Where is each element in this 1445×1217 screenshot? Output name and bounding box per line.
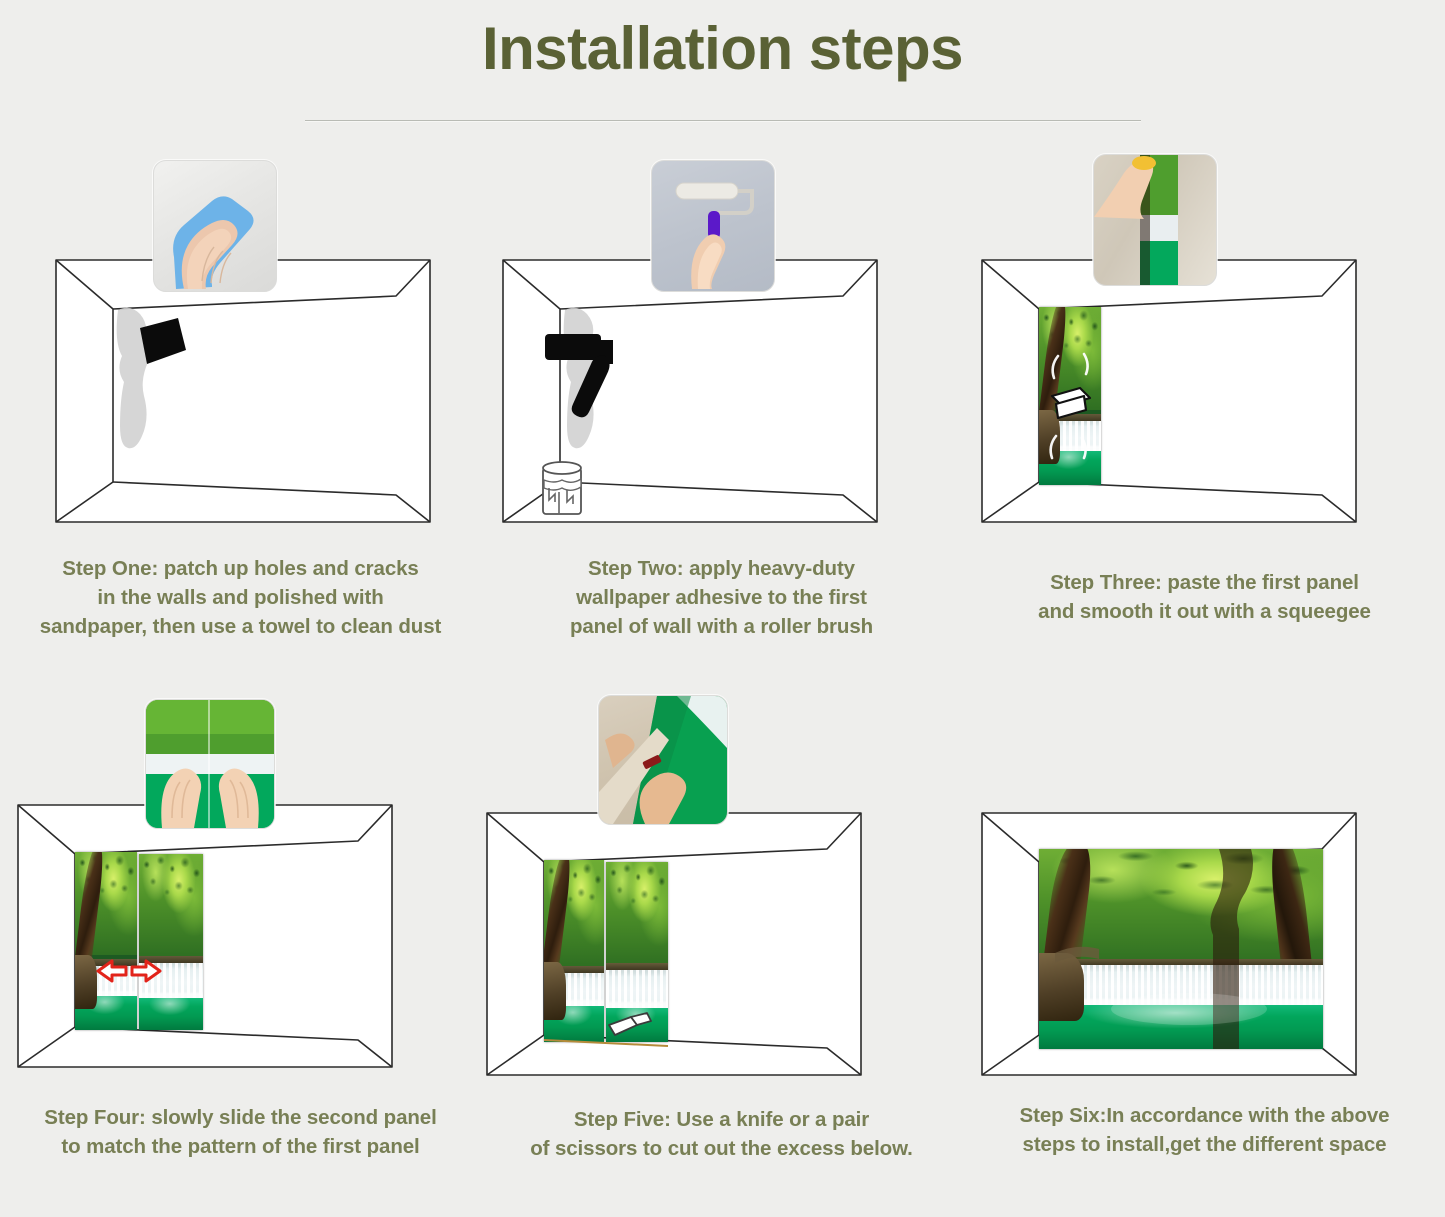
step-card-two: Step Two: apply heavy-duty wallpaper adh…: [481, 150, 962, 683]
hand-with-cloth-photo: [154, 161, 276, 291]
step-card-three: Step Three: paste the first panel and sm…: [964, 150, 1445, 683]
step-card-one: Step One: patch up holes and cracks in t…: [0, 150, 481, 683]
step-four-scene: [0, 695, 481, 1095]
step-two-photo-inset: [651, 160, 775, 292]
hand-with-roller-photo: [652, 161, 774, 291]
mural-panel-1: [544, 860, 604, 1042]
hand-pasting-panel-photo: [1094, 155, 1216, 285]
step-two-scene: [481, 150, 962, 550]
step-card-five: Step Five: Use a knife or a pair of scis…: [481, 683, 962, 1216]
steps-row-bottom: Step Four: slowly slide the second panel…: [0, 683, 1445, 1217]
two-hands-aligning-photo: [146, 700, 274, 828]
steps-row-top: Step One: patch up holes and cracks in t…: [0, 150, 1445, 683]
step-three-scene: [964, 150, 1445, 550]
step-three-caption: Step Three: paste the first panel and sm…: [968, 568, 1441, 626]
step-one-scene: [0, 150, 481, 550]
title-divider: [305, 120, 1141, 122]
step-six-scene: [964, 695, 1445, 1095]
step-four-photo-inset: [145, 699, 275, 829]
step-card-four: Step Four: slowly slide the second panel…: [0, 683, 481, 1216]
steps-grid: Step One: patch up holes and cracks in t…: [0, 150, 1445, 1217]
knife-trimming-photo: [599, 696, 727, 824]
mural-panel-1: [75, 852, 137, 1030]
page-title: Installation steps: [0, 6, 1445, 92]
step-three-photo-inset: [1093, 154, 1217, 286]
step-one-photo-inset: [153, 160, 277, 292]
step-six-caption: Step Six:In accordance with the above st…: [968, 1101, 1441, 1159]
step-four-caption: Step Four: slowly slide the second panel…: [4, 1103, 477, 1161]
mural-panel-1: [1039, 307, 1101, 485]
step-five-caption: Step Five: Use a knife or a pair of scis…: [485, 1105, 958, 1163]
step-five-photo-inset: [598, 695, 728, 825]
step-one-caption: Step One: patch up holes and cracks in t…: [4, 554, 477, 641]
step-card-six: Step Six:In accordance with the above st…: [964, 683, 1445, 1216]
step-five-scene: [481, 695, 962, 1095]
mural-panel-2: [606, 862, 668, 1042]
installation-steps-page: Installation steps: [0, 0, 1445, 1217]
mural-panel-2: [139, 854, 203, 1030]
mural-full-wall: [1039, 849, 1323, 1049]
step-two-caption: Step Two: apply heavy-duty wallpaper adh…: [485, 554, 958, 641]
